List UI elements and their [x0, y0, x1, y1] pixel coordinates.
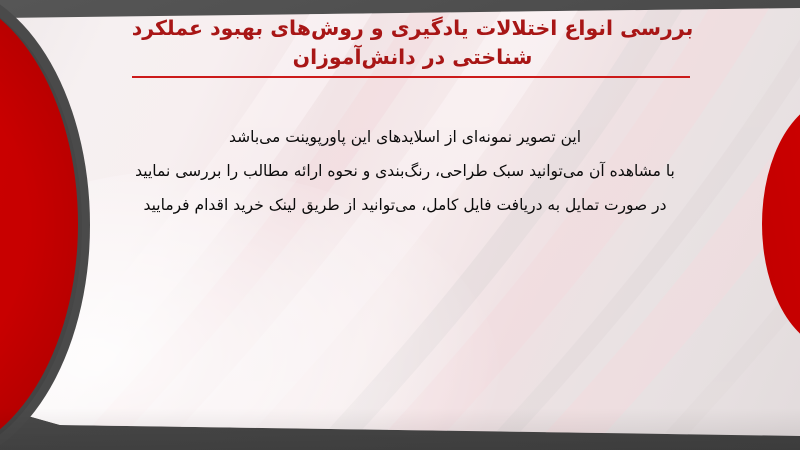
- title-line-1: بررسی انواع اختلالات یادگیری و روش‌های ب…: [120, 14, 705, 43]
- body-line-1: این تصویر نمونه‌ای از اسلایدهای این پاور…: [105, 120, 705, 154]
- body-line-3: در صورت تمایل به دریافت فایل کامل، می‌تو…: [105, 188, 705, 222]
- body-line-2: با مشاهده آن می‌توانید سبک طراحی، رنگ‌بن…: [105, 154, 705, 188]
- slide: بررسی انواع اختلالات یادگیری و روش‌های ب…: [0, 0, 800, 450]
- slide-body-text: این تصویر نمونه‌ای از اسلایدهای این پاور…: [105, 120, 705, 222]
- title-line-2: شناختی در دانش‌آموزان: [120, 43, 705, 72]
- title-underline: [132, 76, 690, 78]
- slide-title: بررسی انواع اختلالات یادگیری و روش‌های ب…: [120, 14, 705, 72]
